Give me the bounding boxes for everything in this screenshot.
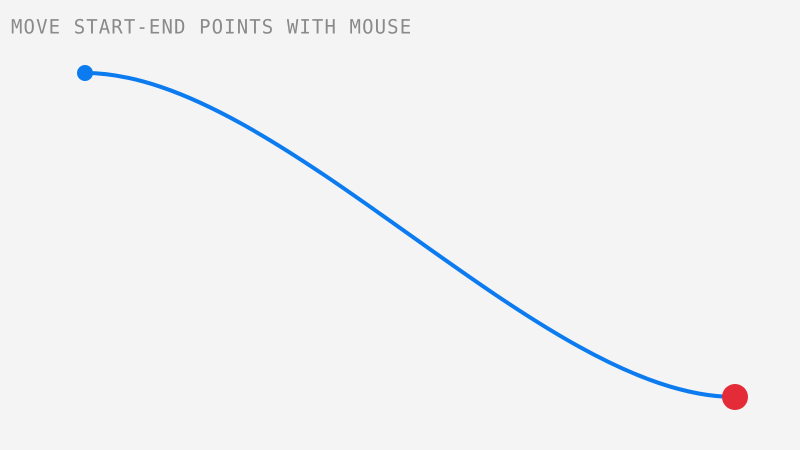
start-point-handle[interactable] <box>77 65 93 81</box>
bezier-curve <box>85 73 735 397</box>
bezier-canvas[interactable] <box>0 0 800 450</box>
bezier-canvas-app: MOVE START-END POINTS WITH MOUSE <box>0 0 800 450</box>
end-point-handle[interactable] <box>722 384 748 410</box>
